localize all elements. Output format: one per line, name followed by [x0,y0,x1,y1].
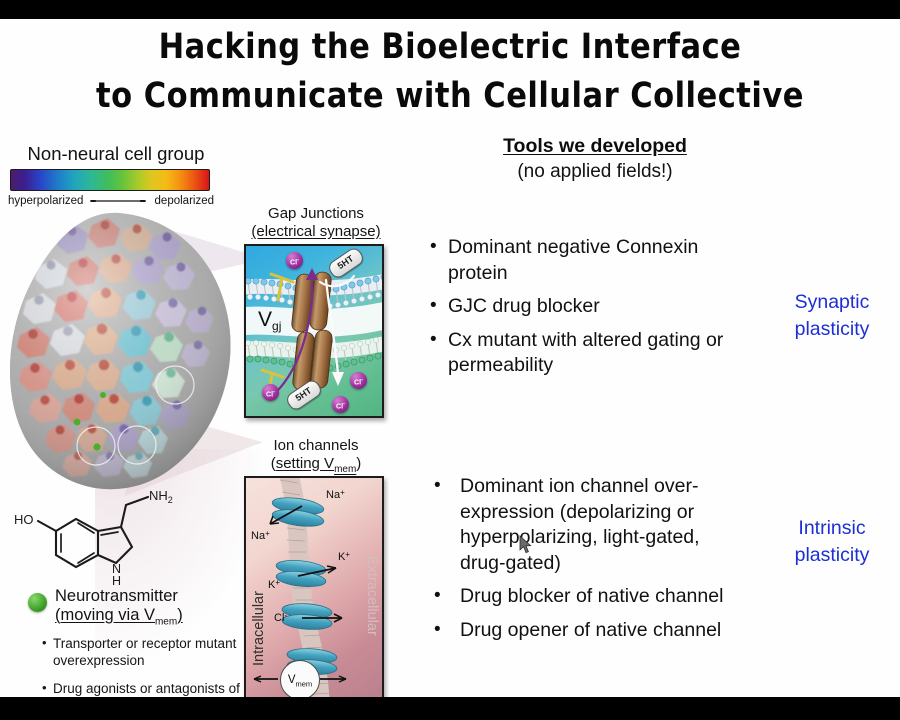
setting-vmem-text: setting V [276,455,334,472]
label-hydroxyl: HO [14,512,34,527]
bullet-icon: • [430,293,437,319]
label-sodium-out: Na+ [326,488,345,501]
intrinsic-plasticity-line1: Intrinsic [772,515,892,542]
intrinsic-plasticity-tag: Intrinsic plasticity [772,515,892,569]
list-item-label: Dominant ion channel over-expression (de… [460,475,700,574]
non-neural-group-title: Non-neural cell group [8,143,224,165]
vmem-subscript: mem [334,464,356,475]
label-ring-hydrogen: H [112,574,121,588]
voltage-colorbar [10,169,210,191]
colorbar-label-hyperpolarized: hyperpolarized [8,195,83,207]
gap-junction-caption-line2: (electrical synapse) [240,223,392,241]
slide-canvas: Hacking the Bioelectric Interface to Com… [0,19,900,697]
list-item-label: Drug agonists or antagonists of receptor… [53,681,240,697]
vmem-readout: Vmem [280,660,320,697]
list-item-label: Transporter or receptor mutant overexpre… [53,636,236,668]
vmem-subscript: mem [155,616,177,627]
letterbox-bar-bottom [0,697,900,720]
list-item-label: Drug blocker of native channel [460,585,723,607]
label-intracellular: Intracellular [251,591,267,666]
neurotransmitter-label: Neurotransmitter [55,587,178,606]
ion-channel-caption-line1: Ion channels [240,437,392,455]
double-arrow-icon [90,200,146,202]
synaptic-plasticity-tag: Synaptic plasticity [772,289,892,343]
synaptic-plasticity-line2: plasticity [772,316,892,343]
ion-channel-protein [282,602,333,631]
ion-channel-caption: Ion channels (setting Vmem) [240,437,392,478]
non-neural-cell-cluster [0,209,250,499]
list-item: •Transporter or receptor mutant overexpr… [42,635,242,669]
ion-channel-caption-line2: (setting Vmem) [240,455,392,479]
ion-channel-protein [271,495,325,529]
bullet-icon: • [430,327,437,353]
intrinsic-plasticity-line2: plasticity [772,542,892,569]
chloride-ion: Cl- [332,396,349,413]
mouse-cursor [519,535,532,554]
list-item-label: Drug opener of native channel [460,619,721,641]
ion-channel-artwork: Na+ Na+ K+ K+ Cl- Intracellular Extracel… [246,478,382,697]
chloride-ion: Cl- [350,372,367,389]
neurotransmitter-bullet-list: •Transporter or receptor mutant overexpr… [42,635,242,697]
list-item-label: Cx mutant with altered gating or permeab… [448,329,723,377]
title-line-2: to Communicate with Cellular Collective [14,72,887,121]
neurotransmitter-dot-icon [28,593,47,612]
list-item: •Drug agonists or antagonists of recepto… [42,680,242,697]
ion-channel-diagram: Na+ Na+ K+ K+ Cl- Intracellular Extracel… [244,476,384,697]
gap-junction-caption: Gap Junctions (electrical synapse) [240,205,392,240]
list-item: •GJC drug blocker [428,294,748,320]
list-item: •Dominant negative Connexin protein [428,235,748,286]
list-item-label: Dominant negative Connexin protein [448,236,698,284]
paren-close: ) [356,455,361,472]
label-amine: NH2 [149,488,173,505]
label-potassium-in: K+ [268,578,280,591]
list-item-label: GJC drug blocker [448,295,600,317]
page-title: Hacking the Bioelectric Interface to Com… [0,23,900,121]
neurotransmitter-sublabel: (moving via Vmem) [55,606,183,627]
label-sodium-in: Na+ [251,529,270,542]
tools-heading: Tools we developed [430,135,760,158]
list-item: •Drug blocker of native channel [428,584,748,610]
label-extracellular: Extracellular [364,556,380,636]
bullet-icon: • [434,473,441,499]
chloride-ion: Cl- [286,252,303,269]
title-line-1: Hacking the Bioelectric Interface [14,23,887,72]
intrinsic-tools-list: •Dominant ion channel over-expression (d… [428,474,748,651]
moving-via-vmem-text: moving via V [61,606,155,624]
vmem-label: V [288,674,296,686]
synaptic-plasticity-line1: Synaptic [772,289,892,316]
cell-cluster-illustration [0,209,250,499]
letterbox-bar-top [0,0,900,19]
tools-heading-block: Tools we developed (no applied fields!) [430,135,760,183]
synaptic-tools-list: •Dominant negative Connexin protein •GJC… [428,235,748,387]
vmem-subscript: mem [296,679,313,688]
colorbar-label-depolarized: depolarized [155,195,214,207]
label-potassium-out: K+ [338,550,350,563]
paren-close: ) [177,606,183,624]
bullet-icon: • [430,234,437,260]
tools-subheading: (no applied fields!) [430,161,760,183]
gap-junction-diagram: Vgj Cl- Cl- Cl- Cl- 5HT 5HT [244,244,384,418]
bullet-icon: • [434,583,441,609]
ion-channel-protein [275,558,326,589]
slide-root: Hacking the Bioelectric Interface to Com… [0,0,900,720]
chloride-ion: Cl- [262,384,279,401]
bullet-icon: • [42,679,47,696]
gap-junction-caption-line1: Gap Junctions [240,205,392,223]
colorbar-labels: hyperpolarized depolarized [4,194,216,210]
list-item: •Cx mutant with altered gating or permea… [428,328,748,379]
bullet-icon: • [42,634,47,651]
bullet-icon: • [434,617,441,643]
list-item: •Dominant ion channel over-expression (d… [428,474,748,576]
list-item: •Drug opener of native channel [428,618,748,644]
